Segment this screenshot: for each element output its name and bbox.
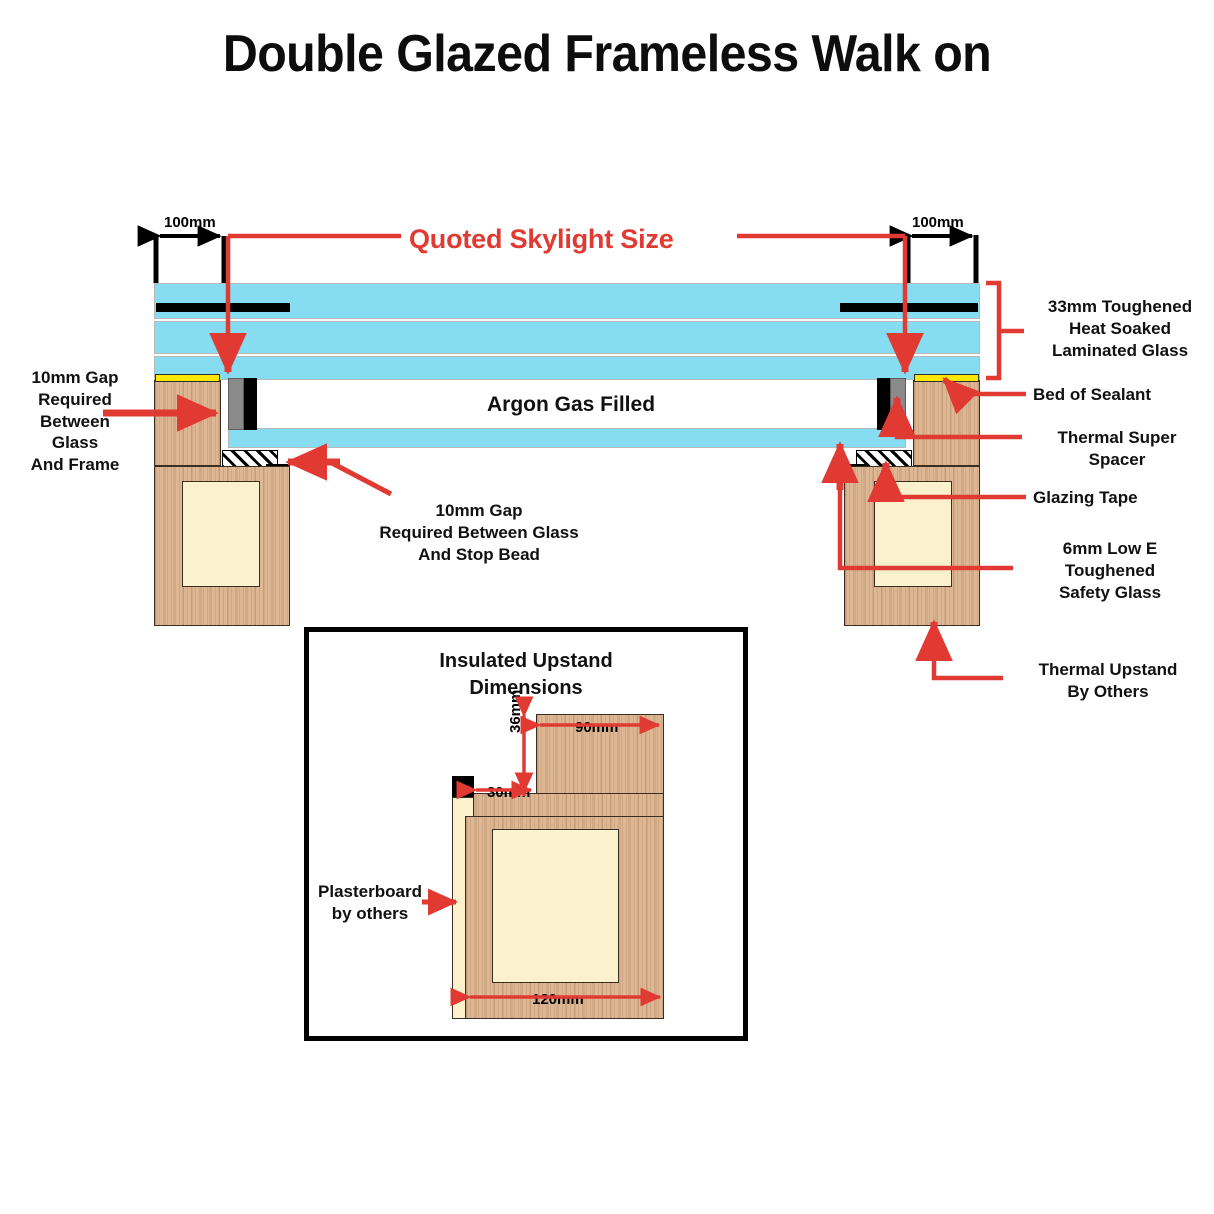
upstand-right-insulation — [874, 481, 952, 587]
inset-dimension-30mm: 30mm — [487, 784, 530, 801]
upstand-right-head — [913, 380, 980, 466]
label-low-e-safety-glass: 6mm Low E Toughened Safety Glass — [1020, 538, 1200, 603]
sealant-bed-right — [914, 374, 979, 382]
diagram-canvas: Double Glazed Frameless Walk on Quoted S… — [0, 0, 1214, 1214]
dimension-label-left-100mm: 100mm — [164, 214, 216, 231]
leader-thermal-upstand — [934, 650, 1003, 678]
inset-dimension-120mm: 120mm — [532, 991, 584, 1008]
thermal-spacer-right — [890, 378, 906, 430]
argon-gas-filled-label: Argon Gas Filled — [487, 393, 655, 417]
interlayer-bar-right — [840, 303, 978, 312]
interlayer-bar-left — [156, 303, 290, 312]
spacer-sealant-right — [877, 378, 890, 430]
label-thermal-super-spacer: Thermal Super Spacer — [1026, 427, 1208, 471]
upstand-left-head — [154, 380, 221, 466]
label-toughened-laminated-glass: 33mm Toughened Heat Soaked Laminated Gla… — [1030, 296, 1210, 361]
label-thermal-upstand: Thermal Upstand By Others — [1010, 659, 1206, 703]
sealant-bed-left — [155, 374, 220, 382]
page-title: Double Glazed Frameless Walk on — [42, 24, 1171, 84]
quoted-skylight-size-label: Quoted Skylight Size — [409, 224, 674, 255]
dimension-label-right-100mm: 100mm — [912, 214, 964, 231]
inset-title: Insulated Upstand Dimensions — [309, 648, 743, 702]
label-gap-glass-frame: 10mm Gap Required Between Glass And Fram… — [10, 367, 140, 476]
inset-stop-bead — [452, 776, 474, 798]
inset-dimension-90mm: 90mm — [575, 719, 618, 736]
upstand-left-insulation — [182, 481, 260, 587]
label-bed-of-sealant: Bed of Sealant — [1033, 384, 1213, 406]
glass-inner-pane — [228, 428, 906, 448]
label-glazing-tape: Glazing Tape — [1033, 487, 1213, 509]
bracket-laminated-glass — [986, 283, 999, 378]
inset-upstand-insulation — [492, 829, 619, 983]
label-plasterboard-by-others: Plasterboard by others — [310, 881, 430, 925]
thermal-spacer-left — [228, 378, 244, 430]
glass-layer-lower — [154, 356, 980, 380]
spacer-sealant-left — [244, 378, 257, 430]
inset-dimension-36mm: 36mm — [507, 690, 524, 733]
leader-gap-stop-bead-diagonal — [330, 462, 391, 494]
glass-layer-top — [154, 283, 980, 319]
glass-layer-middle — [154, 321, 980, 354]
label-gap-glass-stop-bead: 10mm Gap Required Between Glass And Stop… — [326, 500, 632, 565]
